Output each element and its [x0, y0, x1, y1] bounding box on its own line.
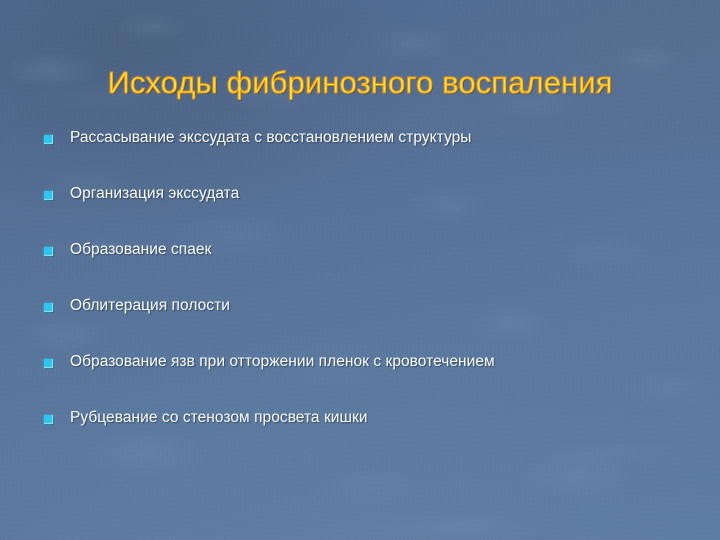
list-item: Образование спаек: [44, 240, 690, 296]
square-bullet-icon: [44, 135, 53, 144]
square-bullet-icon: [44, 247, 53, 256]
square-bullet-icon: [44, 415, 53, 424]
list-item-label: Образование спаек: [70, 240, 690, 260]
list-item: Организация экссудата: [44, 184, 690, 240]
list-item-label: Рубцевание со стенозом просвета кишки: [70, 408, 690, 428]
list-item: Облитерация полости: [44, 296, 690, 352]
list-item-label: Организация экссудата: [70, 184, 690, 204]
square-bullet-icon: [44, 359, 53, 368]
list-item: Образование язв при отторжении пленок с …: [44, 352, 690, 408]
square-bullet-icon: [44, 303, 53, 312]
slide-title: Исходы фибринозного воспаления: [36, 64, 684, 102]
list-item-label: Рассасывание экссудата с восстановлением…: [70, 128, 690, 148]
presentation-slide: Исходы фибринозного воспаления Рассасыва…: [0, 0, 720, 540]
slide-bullet-list: Рассасывание экссудата с восстановлением…: [44, 128, 690, 464]
list-item: Рубцевание со стенозом просвета кишки: [44, 408, 690, 464]
list-item-label: Образование язв при отторжении пленок с …: [70, 352, 690, 372]
list-item-label: Облитерация полости: [70, 296, 690, 316]
list-item: Рассасывание экссудата с восстановлением…: [44, 128, 690, 184]
square-bullet-icon: [44, 191, 53, 200]
